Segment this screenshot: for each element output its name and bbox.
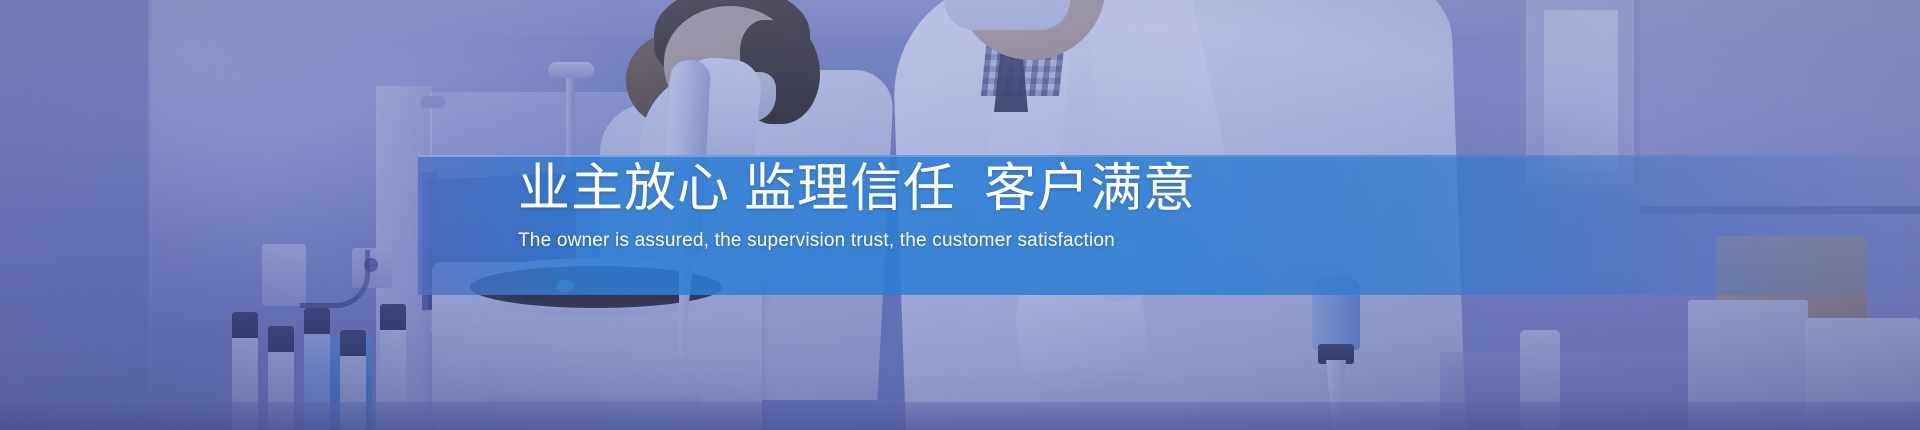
headline-part-2: 监理信任: [744, 160, 956, 218]
banner-headline: 业主放心监理信任客户满意: [518, 158, 1418, 220]
hero-banner: 业主放心监理信任客户满意 The owner is assured, the s…: [0, 0, 1920, 430]
banner-text-block: 业主放心监理信任客户满意 The owner is assured, the s…: [518, 158, 1418, 254]
band-top-highlight: [418, 155, 1920, 157]
headline-part-1: 业主放心: [518, 160, 730, 218]
banner-subtitle: The owner is assured, the supervision tr…: [518, 228, 1418, 254]
headline-part-3: 客户满意: [984, 160, 1196, 218]
